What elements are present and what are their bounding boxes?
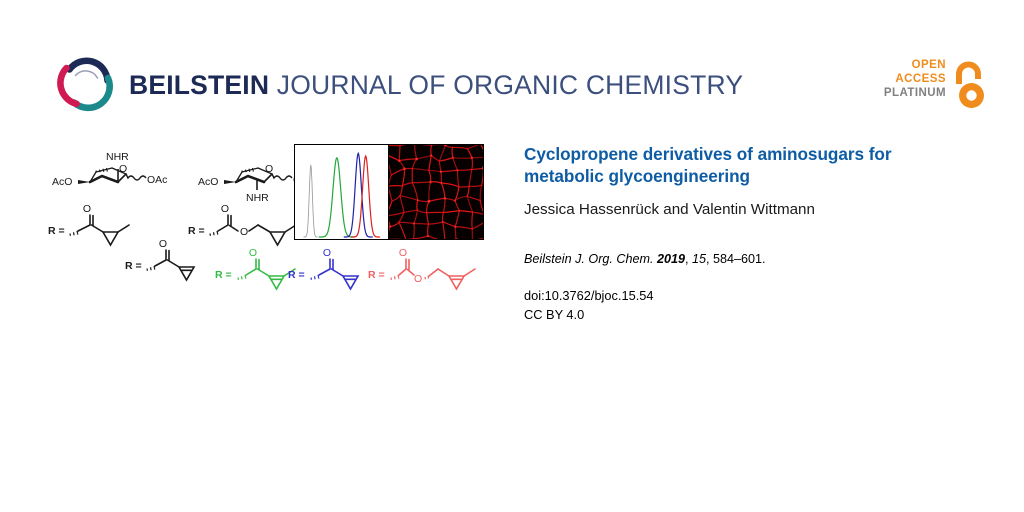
citation-volume: 15: [692, 252, 706, 266]
citation-pages: 584–601.: [713, 252, 766, 266]
r6-ester-o: O: [414, 273, 422, 285]
article-license: CC BY 4.0: [524, 305, 974, 324]
oa-line-access: ACCESS: [884, 72, 946, 86]
article-authors: Jessica Hassenrück and Valentin Wittmann: [524, 200, 974, 220]
label-oac-left: OAc: [147, 174, 167, 186]
r2-label: R =: [188, 225, 205, 237]
fluorescence-micrograph: [389, 145, 483, 239]
r-group-2: R =: [188, 203, 296, 245]
r5-label: R =: [288, 269, 305, 281]
article-metadata: Cyclopropene derivatives of aminosugars …: [524, 143, 974, 324]
label-aco-right: AcO: [198, 176, 218, 188]
citation-journal: Beilstein J. Org. Chem.: [524, 252, 653, 266]
r4-label: R =: [215, 269, 232, 281]
wordmark-beilstein: BEILSTEIN: [129, 70, 269, 100]
article-citation: Beilstein J. Org. Chem. 2019, 15, 584–60…: [524, 251, 974, 268]
oa-line-platinum: PLATINUM: [884, 86, 946, 100]
r2-ester-o: O: [240, 226, 248, 238]
label-o-left: O: [119, 163, 127, 175]
masthead: BEILSTEIN JOURNAL OF ORGANIC CHEMISTRY O…: [0, 0, 1024, 128]
r3-label: R =: [125, 260, 142, 272]
r1-label: R =: [48, 225, 65, 237]
citation-year: 2019: [657, 252, 685, 266]
journal-wordmark: BEILSTEIN JOURNAL OF ORGANIC CHEMISTRY: [129, 70, 743, 101]
r2-carbonyl-o: O: [221, 203, 229, 215]
article-title: Cyclopropene derivatives of aminosugars …: [524, 143, 974, 187]
r5-carbonyl-o: O: [323, 247, 331, 259]
r6-label: R =: [368, 269, 385, 281]
label-nhr-left: NHR: [106, 151, 129, 163]
wordmark-subtitle: JOURNAL OF ORGANIC CHEMISTRY: [269, 70, 743, 100]
open-access-text: OPEN ACCESS PLATINUM: [884, 58, 946, 100]
r-group-4: R = O: [215, 247, 295, 289]
r1-carbonyl-o: O: [83, 203, 91, 215]
open-lock-icon: [950, 60, 988, 110]
r-group-3: R = O: [125, 238, 194, 280]
r6-carbonyl-o: O: [399, 247, 407, 259]
article-doi[interactable]: doi:10.3762/bjoc.15.54: [524, 286, 974, 305]
label-nhr-right: NHR: [246, 192, 269, 204]
r3-carbonyl-o: O: [159, 238, 167, 250]
r4-carbonyl-o: O: [249, 247, 257, 259]
graphical-abstract: [294, 144, 484, 240]
r-group-5: R = O: [288, 247, 358, 289]
label-o-right: O: [265, 163, 273, 175]
beilstein-swirl-logo-icon: [55, 54, 117, 116]
label-aco-left: AcO: [52, 176, 72, 188]
r-group-1: R =: [48, 203, 129, 245]
open-access-badge: OPEN ACCESS PLATINUM: [880, 58, 988, 114]
flow-cytometry-histogram: [295, 145, 389, 239]
oa-line-open: OPEN: [884, 58, 946, 72]
r-group-6: R = O O: [368, 247, 475, 289]
